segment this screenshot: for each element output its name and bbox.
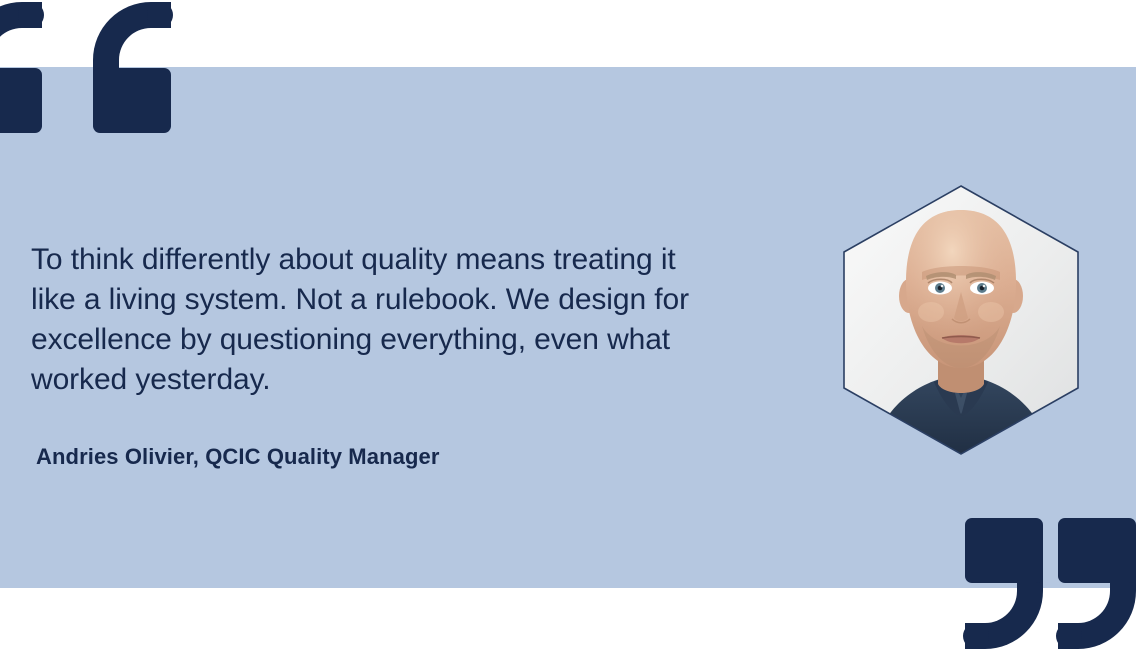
quote-line: excellence by questioning everything, ev…: [31, 320, 821, 360]
quote-card: To think differently about quality means…: [0, 0, 1136, 651]
close-quote-block-2: [1058, 518, 1136, 583]
open-quote-icon: [0, 0, 42, 133]
quote-line: To think differently about quality means…: [31, 240, 821, 280]
quote-line: worked yesterday.: [31, 360, 821, 400]
portrait-hexagon: [830, 176, 1092, 464]
open-quote-block-2: [93, 68, 171, 133]
open-quote-block-1: [0, 68, 42, 133]
open-quote-cap-2: [147, 2, 173, 28]
quote-attribution: Andries Olivier, QCIC Quality Manager: [36, 444, 439, 470]
close-quote-block-1: [965, 518, 1043, 583]
close-quote-cap-1: [963, 623, 989, 649]
close-quote-icon: [965, 518, 1043, 651]
portrait-photo: [830, 176, 1092, 464]
close-quote-cap-2: [1056, 623, 1082, 649]
quote-text: To think differently about quality means…: [31, 240, 821, 400]
open-quote-cap-1: [18, 2, 44, 28]
portrait-svg: [830, 176, 1092, 464]
open-quote-icon-2: [93, 0, 171, 133]
close-quote-icon-2: [1058, 518, 1136, 651]
quote-line: like a living system. Not a rulebook. We…: [31, 280, 821, 320]
